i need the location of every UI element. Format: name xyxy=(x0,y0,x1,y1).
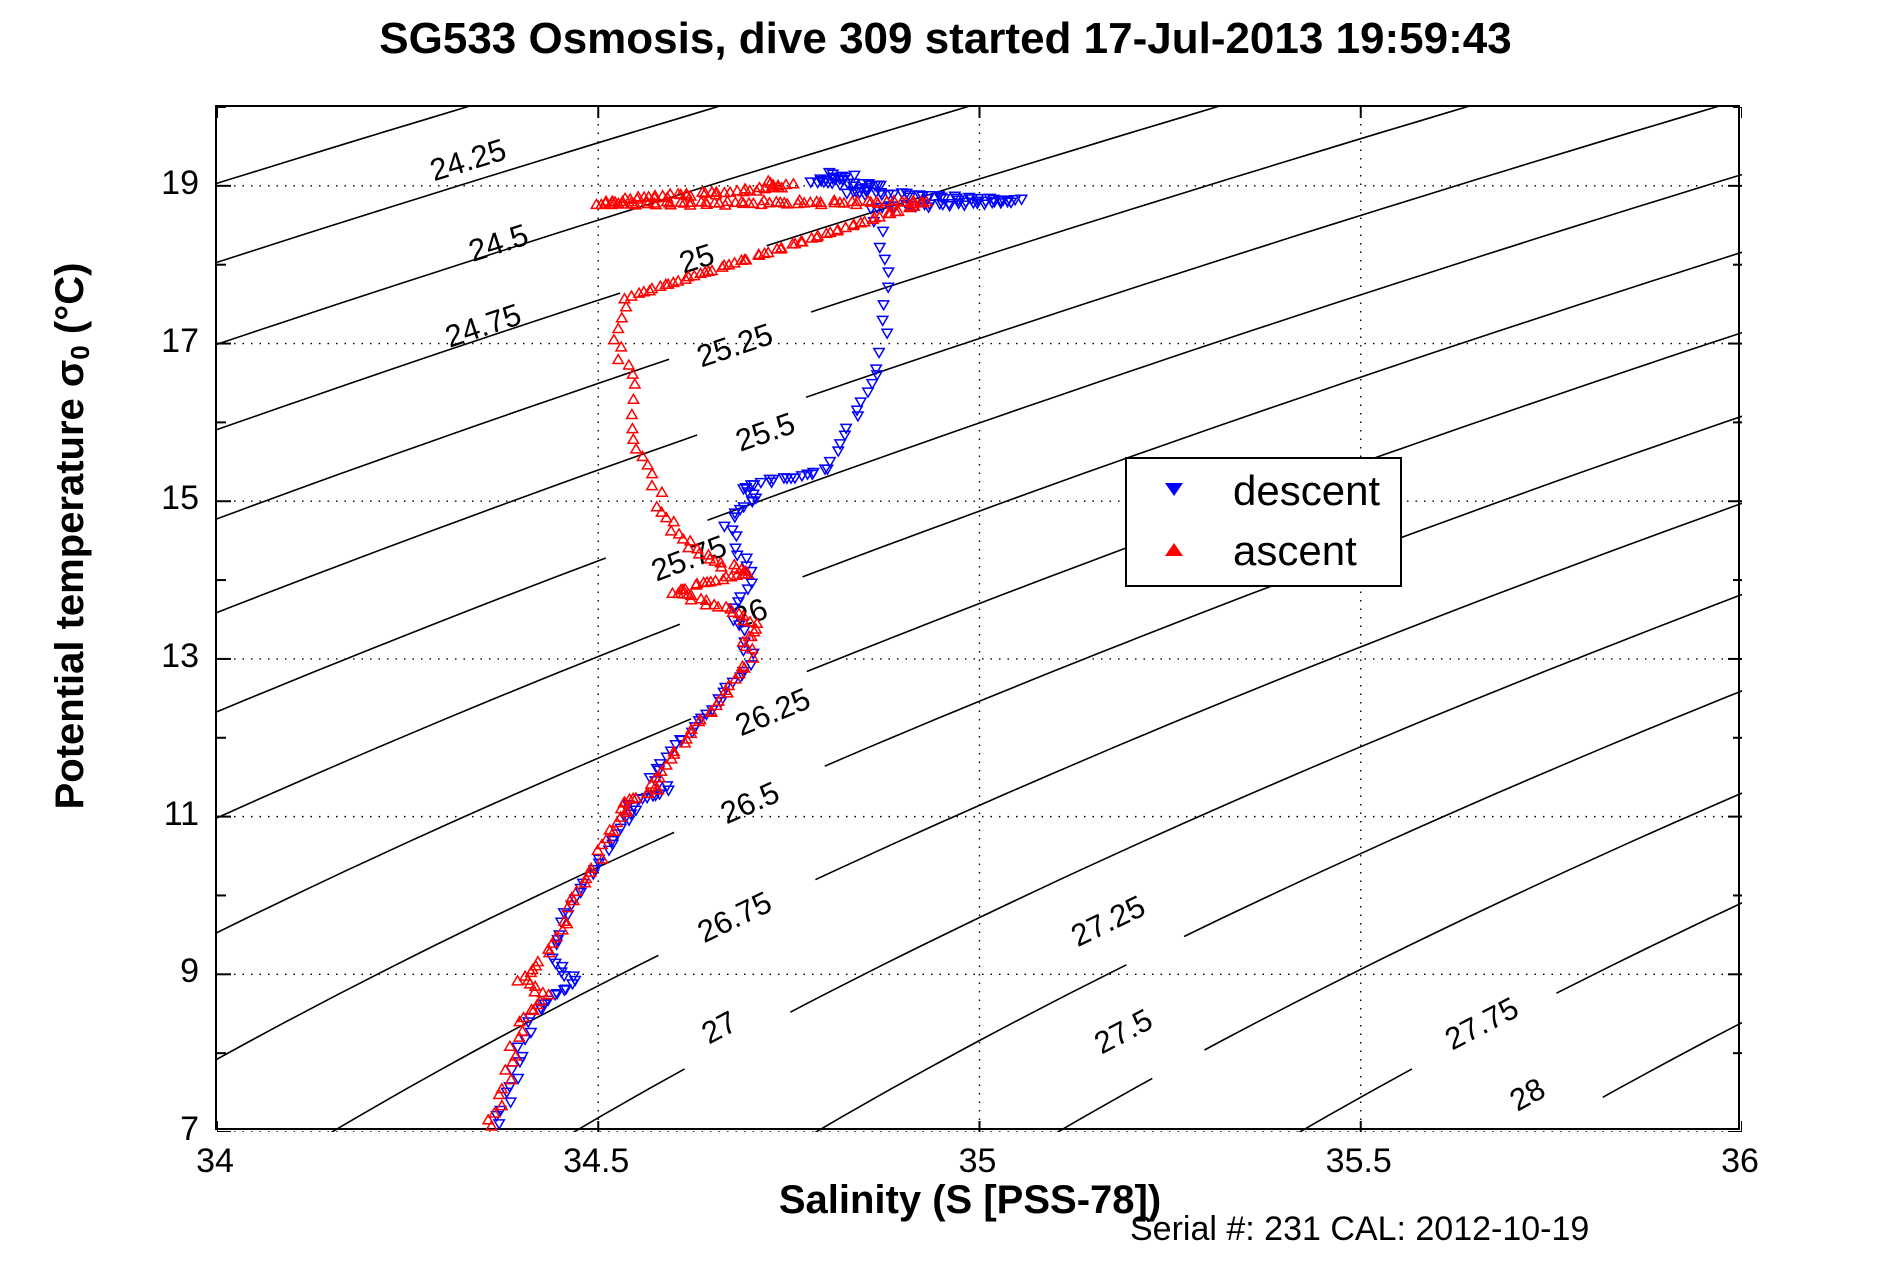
y-tick-label: 17 xyxy=(139,324,199,358)
ascent-marker-icon xyxy=(1165,543,1183,561)
y-tick-label: 11 xyxy=(139,797,199,831)
chart-legend[interactable]: descent ascent xyxy=(1125,457,1402,587)
y-tick-label: 19 xyxy=(139,166,199,200)
y-axis-label: Potential temperature σ0 (°C) xyxy=(48,86,96,986)
y-tick-label: 13 xyxy=(139,639,199,673)
x-tick-label: 34 xyxy=(155,1144,275,1178)
sigma-symbol: σ xyxy=(48,360,92,387)
legend-label-descent: descent xyxy=(1233,465,1380,517)
y-tick-label: 9 xyxy=(139,954,199,988)
y-tick-label: 15 xyxy=(139,481,199,515)
x-tick-label: 34.5 xyxy=(536,1144,656,1178)
x-tick-label: 35 xyxy=(918,1144,1038,1178)
legend-row-ascent[interactable]: ascent xyxy=(1127,523,1404,581)
y-tick-label: 7 xyxy=(139,1112,199,1146)
sigma-subscript: 0 xyxy=(65,345,95,359)
x-tick-label: 36 xyxy=(1680,1144,1800,1178)
descent-marker-icon xyxy=(1165,483,1183,501)
x-tick-label: 35.5 xyxy=(1299,1144,1419,1178)
y-axis-label-text: Potential temperature xyxy=(48,387,92,809)
legend-label-ascent: ascent xyxy=(1233,525,1357,577)
y-axis-units: (°C) xyxy=(48,263,92,346)
legend-row-descent[interactable]: descent xyxy=(1127,463,1404,521)
sensor-footer-note: Serial #: 231 CAL: 2012-10-19 xyxy=(1130,1210,1830,1249)
axis-tick-labels: 1917151311973434.53535.536 xyxy=(0,0,1891,1262)
